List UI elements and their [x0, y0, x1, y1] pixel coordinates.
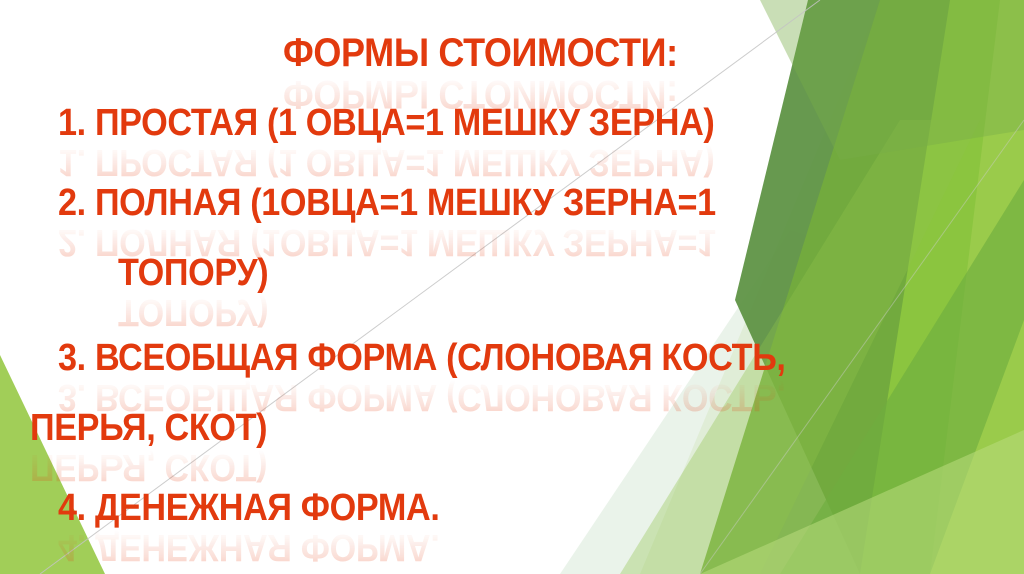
list-item-1: 1. ПРОСТАЯ (1 ОВЦА=1 МЕШКУ ЗЕРНА) [58, 104, 714, 142]
list-item-3: 3. ВСЕОБЩАЯ ФОРМА (СЛОНОВАЯ КОСТЬ, [58, 339, 786, 377]
item-1-reflection: 1. ПРОСТАЯ (1 ОВЦА=1 МЕШКУ ЗЕРНА) [58, 143, 714, 181]
item-3-cont-reflection: ПЕРЬЯ, СКОТ) [30, 448, 267, 486]
list-item-2-continuation: ТОПОРУ) [118, 254, 268, 292]
slide-canvas: ФОРМЫ СТОИМОСТИ: 1. ПРОСТАЯ (1 ОВЦА=1 МЕ… [0, 0, 1024, 574]
list-item-2: 2. ПОЛНАЯ (1ОВЦА=1 МЕШКУ ЗЕРНА=1 [58, 184, 716, 222]
item-2-cont-reflection: ТОПОРУ) [118, 293, 268, 331]
list-item-3-continuation: ПЕРЬЯ, СКОТ) [30, 409, 267, 447]
slide-title: ФОРМЫ СТОИМОСТИ: [283, 33, 678, 73]
item-4-reflection: 4. ДЕНЕЖНАЯ ФОРМА. [58, 528, 439, 566]
slide-text-content: ФОРМЫ СТОИМОСТИ: 1. ПРОСТАЯ (1 ОВЦА=1 МЕ… [0, 0, 1024, 574]
list-item-4: 4. ДЕНЕЖНАЯ ФОРМА. [58, 489, 439, 527]
